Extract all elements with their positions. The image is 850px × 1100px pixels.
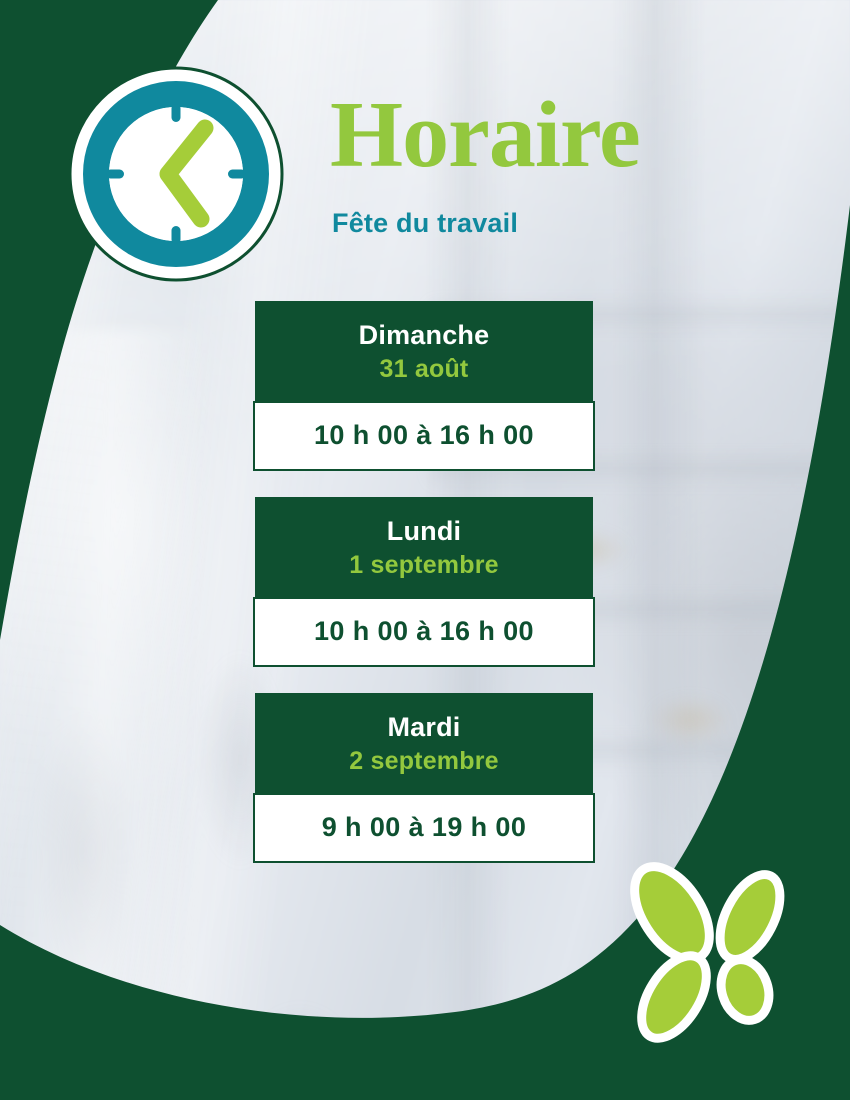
schedule-hours-box: 10 h 00 à 16 h 00: [253, 401, 595, 471]
schedule-card-header: Dimanche 31 août: [255, 301, 593, 401]
schedule-hours-box: 10 h 00 à 16 h 00: [253, 597, 595, 667]
page-subtitle: Fête du travail: [332, 208, 518, 239]
schedule-date-label: 1 septembre: [265, 549, 583, 582]
schedule-day-label: Lundi: [265, 514, 583, 549]
schedule-poster: Horaire Fête du travail Dimanche 31 août…: [0, 0, 850, 1100]
schedule-card-header: Lundi 1 septembre: [255, 497, 593, 597]
schedule-card: Dimanche 31 août 10 h 00 à 16 h 00: [255, 301, 593, 471]
page-title: Horaire: [330, 88, 640, 182]
clock-icon: [68, 66, 284, 282]
schedule-hours-label: 10 h 00 à 16 h 00: [261, 616, 587, 647]
schedule-hours-box: 9 h 00 à 19 h 00: [253, 793, 595, 863]
schedule-list: Dimanche 31 août 10 h 00 à 16 h 00 Lundi…: [255, 301, 593, 863]
schedule-day-label: Dimanche: [265, 318, 583, 353]
schedule-card-header: Mardi 2 septembre: [255, 693, 593, 793]
butterfly-logo-icon: [610, 855, 810, 1055]
schedule-date-label: 2 septembre: [265, 745, 583, 778]
schedule-hours-label: 10 h 00 à 16 h 00: [261, 420, 587, 451]
schedule-date-label: 31 août: [265, 353, 583, 386]
schedule-day-label: Mardi: [265, 710, 583, 745]
schedule-card: Lundi 1 septembre 10 h 00 à 16 h 00: [255, 497, 593, 667]
schedule-hours-label: 9 h 00 à 19 h 00: [261, 812, 587, 843]
schedule-card: Mardi 2 septembre 9 h 00 à 19 h 00: [255, 693, 593, 863]
